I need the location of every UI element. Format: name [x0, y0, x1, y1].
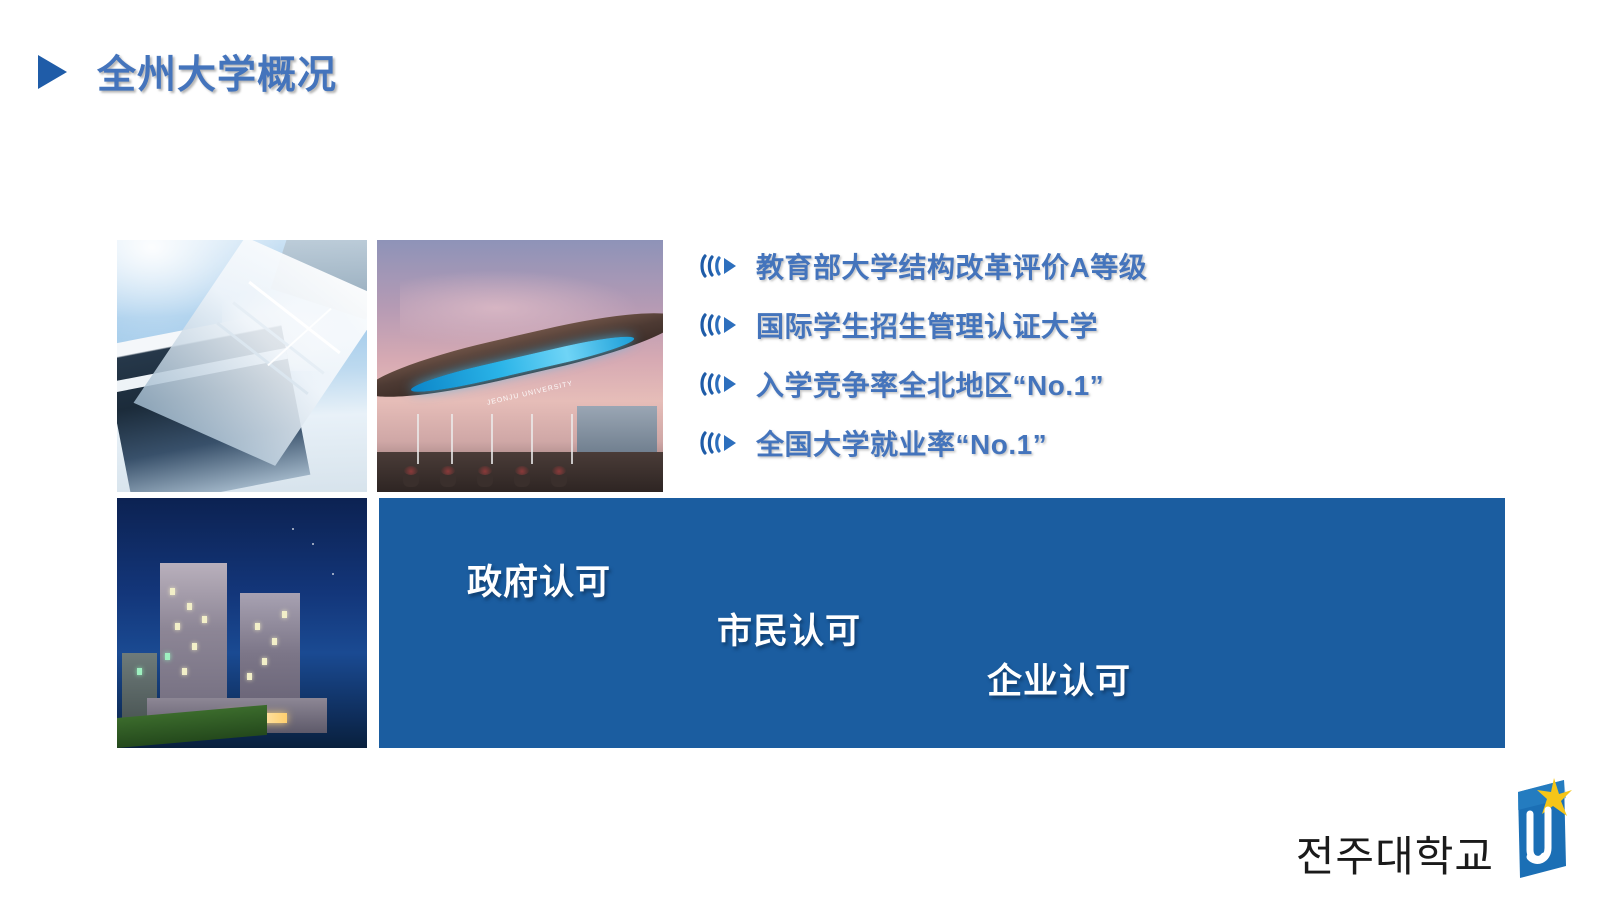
lit-window: [272, 638, 277, 645]
flower-pot: [551, 473, 567, 487]
panel-phrase-enterprise: 企业认可: [987, 653, 1131, 704]
gate-pillar: [491, 414, 493, 464]
list-item[interactable]: 入学竞争率全北地区“No.1”: [700, 354, 1400, 413]
flower-pot: [440, 473, 456, 487]
star-speck: [312, 543, 314, 545]
list-item-label: 全国大学就业率“No.1”: [756, 423, 1047, 463]
lit-window: [282, 611, 287, 618]
flower-pot: [514, 473, 530, 487]
list-item[interactable]: 教育部大学结构改革评价A等级: [700, 236, 1400, 295]
list-item[interactable]: 国际学生招生管理认证大学: [700, 295, 1400, 354]
sound-wave-play-icon: [700, 370, 744, 398]
panel-phrase-citizen: 市民认可: [717, 603, 861, 654]
university-logo: 전주대학교: [1296, 778, 1572, 882]
slide-canvas: 全州大学概况 JEONJU UNIVERSITY: [0, 0, 1600, 900]
panel-phrase-government: 政府认可: [467, 554, 611, 605]
lit-window: [175, 623, 180, 630]
sound-wave-play-icon: [700, 311, 744, 339]
lit-window: [187, 603, 192, 610]
flower-pot: [477, 473, 493, 487]
campus-gate-photo: JEONJU UNIVERSITY: [377, 240, 663, 492]
flower-pot: [403, 473, 419, 487]
jeonju-university-emblem: [1504, 778, 1572, 882]
lit-window: [247, 673, 252, 680]
lit-window: [255, 623, 260, 630]
recognition-panel: 政府认可 市民认可 企业认可: [379, 498, 1505, 748]
star-speck: [332, 573, 334, 575]
list-item-label: 国际学生招生管理认证大学: [756, 305, 1098, 345]
bullet-list: 教育部大学结构改革评价A等级 国际学生招生管理认证大学: [700, 236, 1400, 472]
lit-window: [137, 668, 142, 675]
lit-window: [192, 643, 197, 650]
page-title-label: 全州大学概况: [97, 44, 337, 100]
lit-window: [182, 668, 187, 675]
university-logo-text: 전주대학교: [1296, 836, 1494, 882]
gate-pillar: [451, 414, 453, 464]
gate-pillar: [571, 414, 573, 464]
lit-window: [262, 658, 267, 665]
led-banner-text: JEONJU UNIVERSITY: [486, 380, 574, 407]
sound-wave-play-icon: [700, 429, 744, 457]
triangle-right-icon: [38, 55, 67, 89]
lit-window: [202, 616, 207, 623]
sound-wave-play-icon: [700, 252, 744, 280]
background-building: [577, 406, 657, 456]
list-item[interactable]: 全国大学就业率“No.1”: [700, 413, 1400, 472]
dormitory-night-photo: [117, 498, 367, 748]
star-speck: [292, 528, 294, 530]
lit-window: [165, 653, 170, 660]
glass-building-photo: [117, 240, 367, 492]
page-title: 全州大学概况: [38, 44, 337, 100]
gate-pillar: [417, 414, 419, 464]
list-item-label: 教育部大学结构改革评价A等级: [756, 246, 1147, 286]
list-item-label: 入学竞争率全北地区“No.1”: [756, 364, 1104, 404]
gate-pillar: [531, 414, 533, 464]
lit-window: [170, 588, 175, 595]
